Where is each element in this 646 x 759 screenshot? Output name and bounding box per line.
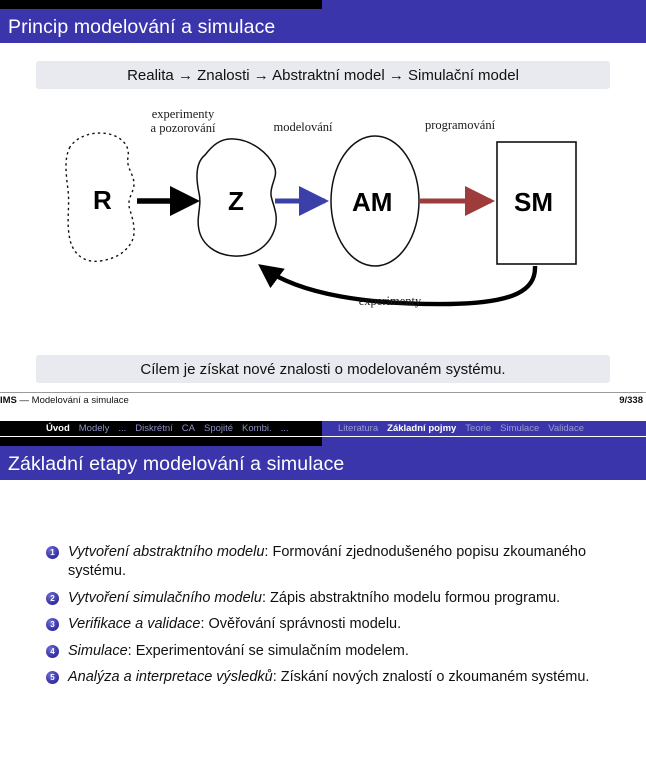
list-item: 2 Vytvoření simulačního modelu: Zápis ab… xyxy=(46,589,626,608)
slide2-top-strip-black xyxy=(0,437,322,446)
nav-item-kombi[interactable]: Kombi. xyxy=(242,423,272,434)
nav-item-teorie[interactable]: Teorie xyxy=(465,423,491,434)
list-item-text-2: Vytvoření simulačního modelu: Zápis abst… xyxy=(68,589,560,608)
nav-item-simulace[interactable]: Simulace xyxy=(500,423,539,434)
node-label-Z: Z xyxy=(228,186,244,217)
slide1-top-strip-black xyxy=(0,0,322,9)
edge-label-programming: programování xyxy=(405,118,515,132)
list-item-rest-3: : Ověřování správnosti modelu. xyxy=(200,616,401,632)
edge-label-modelling: modelování xyxy=(258,120,348,134)
list-item-text-3: Verifikace a validace: Ověřování správno… xyxy=(68,615,401,634)
nav-item-spojite[interactable]: Spojité xyxy=(204,423,233,434)
slide1-footer: IMS — Modelování a simulace 9/338 xyxy=(0,395,646,409)
nav-item-zakladni-pojmy[interactable]: Základní pojmy xyxy=(387,423,456,434)
nav-item-literatura[interactable]: Literatura xyxy=(338,423,378,434)
nav-group-subsections[interactable]: Literatura Základní pojmy Teorie Simulac… xyxy=(338,421,584,436)
edge-label-experiments-observation-line2: a pozorování xyxy=(128,121,238,135)
list-item-emphasis-4: Simulace xyxy=(68,643,128,659)
list-item: 5 Analýza a interpretace výsledků: Získá… xyxy=(46,668,626,687)
list-bullet-4: 4 xyxy=(46,645,59,658)
nav-item-more-1[interactable]: ... xyxy=(118,423,126,434)
list-bullet-5: 5 xyxy=(46,671,59,684)
list-item: 4 Simulace: Experimentování se simulační… xyxy=(46,642,626,661)
nav-item-modely[interactable]: Modely xyxy=(79,423,110,434)
footer-course-title: — Modelování a simulace xyxy=(20,395,129,406)
list-item-emphasis-5: Analýza a interpretace výsledků xyxy=(68,669,273,685)
list-item-rest-4: : Experimentování se simulačním modelem. xyxy=(128,643,409,659)
page-title: Princip modelování a simulace xyxy=(0,9,646,47)
footer-course-code: IMS xyxy=(0,395,17,406)
list-bullet-2: 2 xyxy=(46,592,59,605)
slide1-top-strip xyxy=(0,0,646,9)
nav-group-sections[interactable]: Úvod Modely ... Diskrétní CA Spojité Kom… xyxy=(46,421,289,436)
nav-item-ca[interactable]: CA xyxy=(182,423,195,434)
list-item-emphasis-3: Verifikace a validace xyxy=(68,616,200,632)
banner-goal-text: Cílem je získat nové znalosti o modelova… xyxy=(140,361,505,378)
navigation-bar[interactable]: Úvod Modely ... Diskrétní CA Spojité Kom… xyxy=(0,421,646,436)
slide1-title-bar: Princip modelování a simulace xyxy=(0,9,646,43)
node-label-SM: SM xyxy=(514,187,553,218)
slide-principle: Princip modelování a simulace Realita → … xyxy=(0,0,646,437)
footer-rule xyxy=(0,392,646,393)
banner-pipeline: Realita → Znalosti → Abstraktní model → … xyxy=(36,61,610,89)
nav-item-more-2[interactable]: ... xyxy=(281,423,289,434)
principle-diagram: R Z AM SM experimenty a pozorování model… xyxy=(0,100,646,380)
list-item-emphasis-2: Vytvoření simulačního modelu xyxy=(68,590,262,606)
node-label-AM: AM xyxy=(352,187,392,218)
nav-item-diskretni[interactable]: Diskrétní xyxy=(135,423,172,434)
node-label-R: R xyxy=(93,185,112,216)
stages-list: 1 Vytvoření abstraktního modelu: Formová… xyxy=(46,543,626,695)
list-bullet-1: 1 xyxy=(46,546,59,559)
list-bullet-3: 3 xyxy=(46,618,59,631)
edge-label-experiments-feedback: experimenty xyxy=(340,294,440,308)
list-item-text-1: Vytvoření abstraktního modelu: Formování… xyxy=(68,543,626,582)
slide-stages: Základní etapy modelování a simulace 1 V… xyxy=(0,437,646,759)
list-item-rest-5: : Získání nových znalostí o zkoumaném sy… xyxy=(273,669,590,685)
list-item-text-4: Simulace: Experimentování se simulačním … xyxy=(68,642,409,661)
edge-label-experiments-observation-line1: experimenty xyxy=(128,107,238,121)
list-item: 1 Vytvoření abstraktního modelu: Formová… xyxy=(46,543,626,582)
footer-left: IMS — Modelování a simulace xyxy=(0,395,129,406)
banner-pipeline-text: Realita → Znalosti → Abstraktní model → … xyxy=(127,67,519,84)
nav-item-uvod[interactable]: Úvod xyxy=(46,423,70,434)
slide2-title-bar: Základní etapy modelování a simulace xyxy=(0,446,646,480)
list-item: 3 Verifikace a validace: Ověřování správ… xyxy=(46,615,626,634)
list-item-text-5: Analýza a interpretace výsledků: Získání… xyxy=(68,668,589,687)
slide2-top-strip xyxy=(0,437,646,446)
banner-goal: Cílem je získat nové znalosti o modelova… xyxy=(36,355,610,383)
page-title-2: Základní etapy modelování a simulace xyxy=(0,446,646,484)
nav-item-validace[interactable]: Validace xyxy=(548,423,584,434)
list-item-emphasis-1: Vytvoření abstraktního modelu xyxy=(68,544,264,560)
footer-page-number: 9/338 xyxy=(619,395,643,406)
list-item-rest-2: : Zápis abstraktního modelu formou progr… xyxy=(262,590,560,606)
